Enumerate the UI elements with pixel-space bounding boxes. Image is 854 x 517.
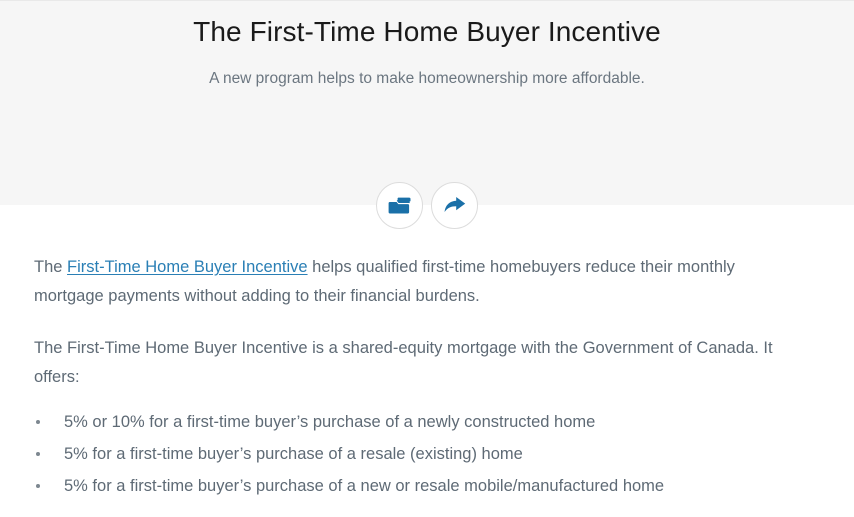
article-page: The First-Time Home Buyer Incentive A ne…: [0, 0, 854, 517]
page-subtitle: A new program helps to make homeownershi…: [0, 68, 854, 90]
list-item-label: 5% or 10% for a first-time buyer’s purch…: [64, 413, 595, 431]
save-to-folder-button[interactable]: [376, 182, 423, 229]
first-time-home-buyer-incentive-link[interactable]: First-Time Home Buyer Incentive: [67, 258, 308, 276]
hero-banner: The First-Time Home Buyer Incentive A ne…: [0, 0, 854, 205]
list-item-label: 5% for a first-time buyer’s purchase of …: [64, 477, 664, 495]
intro-paragraph: The First-Time Home Buyer Incentive help…: [34, 253, 806, 311]
bullet-dot-icon: [36, 452, 40, 456]
bullet-dot-icon: [36, 420, 40, 424]
list-item: 5% or 10% for a first-time buyer’s purch…: [0, 406, 854, 438]
share-arrow-icon: [443, 195, 467, 216]
bullet-dot-icon: [36, 484, 40, 488]
article-actions: [0, 182, 854, 229]
share-button[interactable]: [431, 182, 478, 229]
list-item-label: 5% for a first-time buyer’s purchase of …: [64, 445, 523, 463]
list-item: 5% for a first-time buyer’s purchase of …: [0, 470, 854, 502]
intro-lead-text: The: [34, 258, 67, 276]
list-item: 5% for a first-time buyer’s purchase of …: [0, 438, 854, 470]
incentive-bullet-list: 5% or 10% for a first-time buyer’s purch…: [0, 406, 854, 502]
folder-icon: [388, 196, 412, 216]
page-title: The First-Time Home Buyer Incentive: [0, 15, 854, 49]
description-paragraph: The First-Time Home Buyer Incentive is a…: [34, 334, 774, 392]
